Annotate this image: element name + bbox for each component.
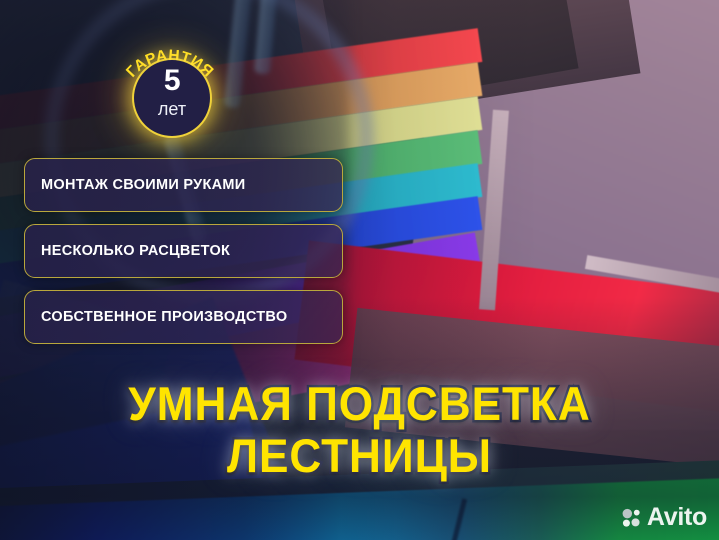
avito-watermark: Avito (621, 505, 707, 530)
ad-image: ГАРАНТИЯ 5 лет МОНТАЖ СВОИМИ РУКАМИ НЕСК… (0, 0, 719, 540)
feature-card-1: МОНТАЖ СВОИМИ РУКАМИ (24, 158, 343, 212)
avito-wordmark: Avito (647, 505, 707, 530)
avito-dots-icon (621, 507, 642, 528)
feature-card-2: НЕСКОЛЬКО РАСЦВЕТОК (24, 224, 343, 278)
guarantee-years-unit: лет (134, 100, 210, 118)
feature-card-label: НЕСКОЛЬКО РАСЦВЕТОК (25, 243, 230, 259)
feature-card-label: СОБСТВЕННОЕ ПРОИЗВОДСТВО (25, 309, 287, 325)
guarantee-years-number: 5 (134, 66, 210, 96)
guarantee-badge: ГАРАНТИЯ 5 лет (116, 36, 224, 148)
feature-card-label: МОНТАЖ СВОИМИ РУКАМИ (25, 177, 246, 193)
feature-card-3: СОБСТВЕННОЕ ПРОИЗВОДСТВО (24, 290, 343, 344)
